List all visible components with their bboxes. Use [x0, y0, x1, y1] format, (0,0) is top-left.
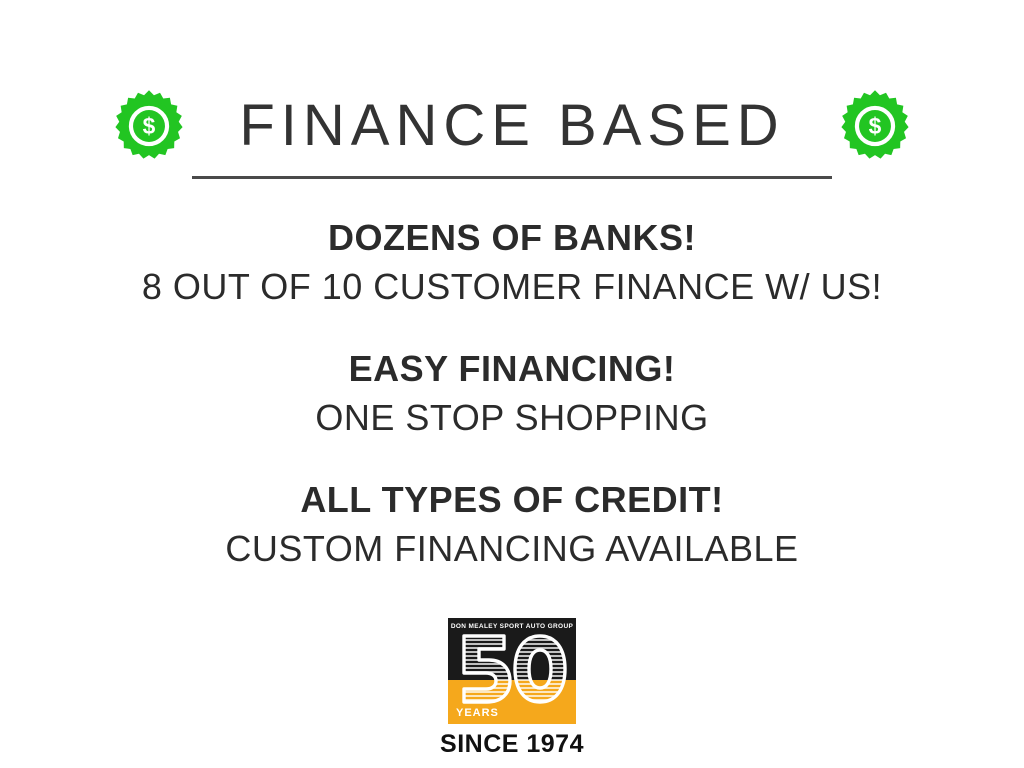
stanza-headline: DOZENS OF BANKS!: [0, 214, 1024, 263]
logo-since-label: SINCE 1974: [440, 730, 584, 759]
body-content: DOZENS OF BANKS! 8 OUT OF 10 CUSTOMER FI…: [0, 214, 1024, 574]
logo-badge: DON MEALEY SPORT AUTO GROUP YEARS: [448, 618, 576, 724]
svg-text:$: $: [143, 113, 156, 139]
stanza-subline: CUSTOM FINANCING AVAILABLE: [0, 525, 1024, 574]
money-gear-icon: $: [837, 88, 913, 164]
finance-based-slide: $ FINANCE BASED $ DOZENS OF BANKS! 8 OUT…: [0, 0, 1024, 768]
logo-fifty-numeral: [448, 630, 576, 708]
title-divider: [192, 176, 832, 179]
stanza-subline: ONE STOP SHOPPING: [0, 394, 1024, 443]
stanza-headline: EASY FINANCING!: [0, 345, 1024, 394]
page-title: FINANCE BASED: [239, 97, 784, 155]
stanza-financing: EASY FINANCING! ONE STOP SHOPPING: [0, 345, 1024, 442]
stanza-subline: 8 OUT OF 10 CUSTOMER FINANCE W/ US!: [0, 263, 1024, 312]
stanza-headline: ALL TYPES OF CREDIT!: [0, 476, 1024, 525]
slide-header: $ FINANCE BASED $: [0, 78, 1024, 174]
dealer-logo: DON MEALEY SPORT AUTO GROUP YEARS: [0, 618, 1024, 759]
stanza-banks: DOZENS OF BANKS! 8 OUT OF 10 CUSTOMER FI…: [0, 214, 1024, 311]
logo-years-label: YEARS: [456, 707, 499, 719]
svg-text:$: $: [868, 113, 881, 139]
stanza-credit: ALL TYPES OF CREDIT! CUSTOM FINANCING AV…: [0, 476, 1024, 573]
money-gear-icon: $: [111, 88, 187, 164]
logo-group-name: DON MEALEY SPORT AUTO GROUP: [448, 623, 576, 630]
